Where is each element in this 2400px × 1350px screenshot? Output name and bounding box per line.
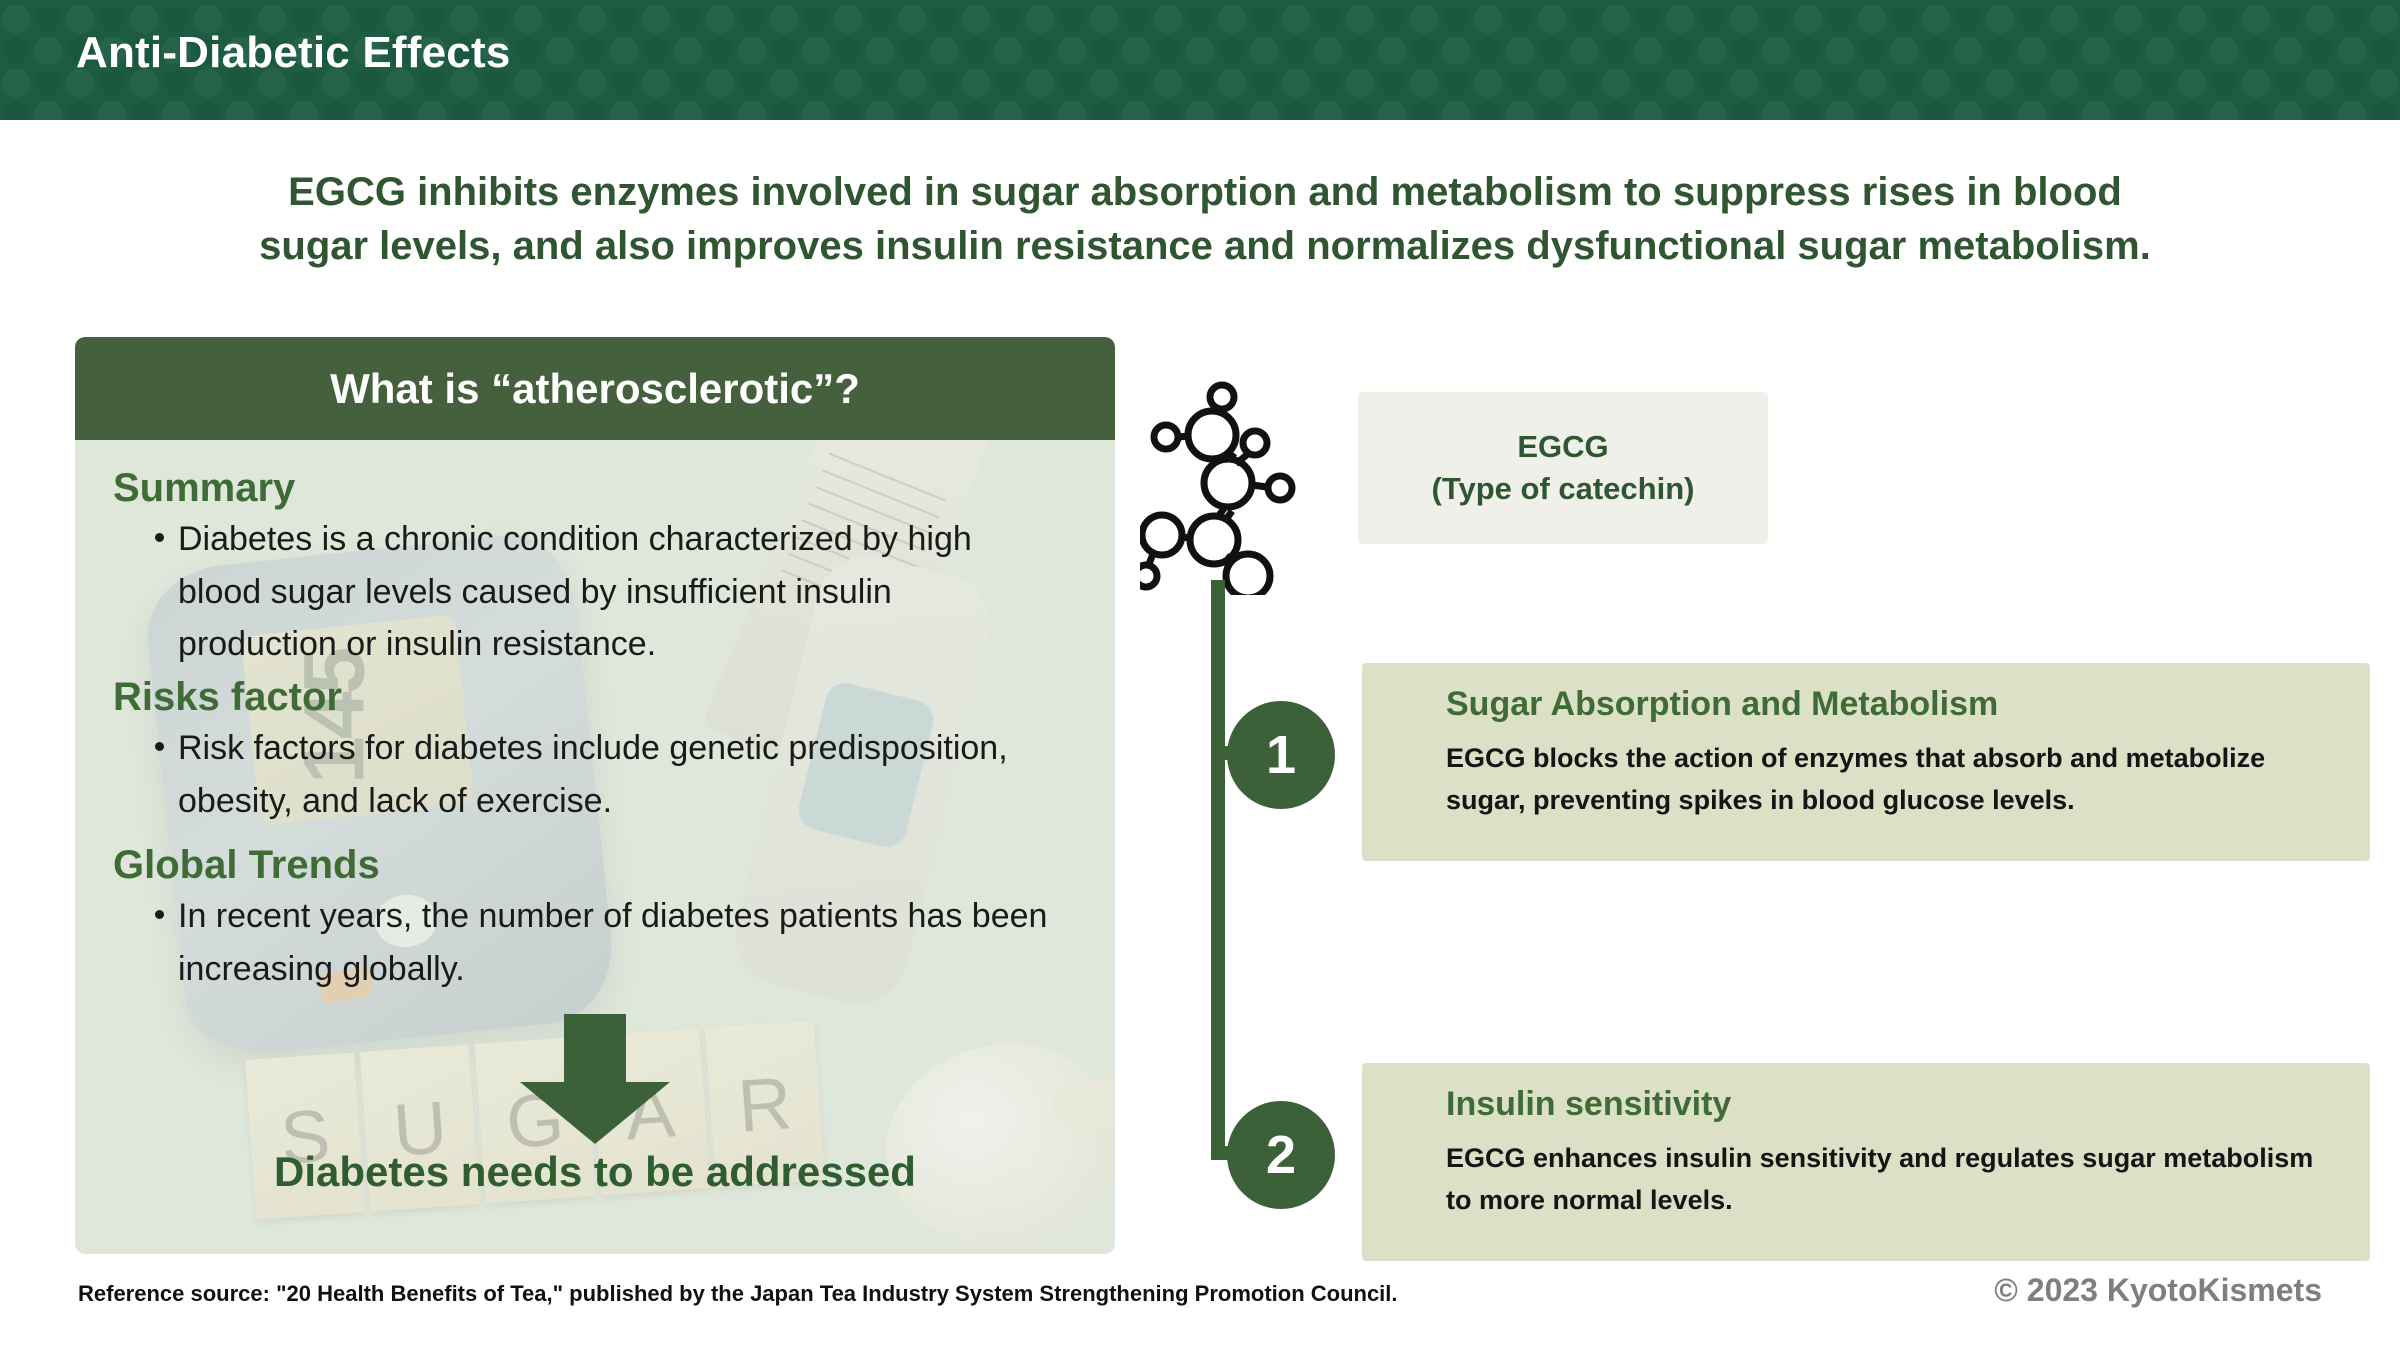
step-title-2: Insulin sensitivity	[1446, 1085, 2336, 1124]
step-number-badge-2: 2	[1227, 1101, 1335, 1209]
definition-card: What is “atherosclerotic”? 145 S U G A R	[75, 337, 1115, 1254]
section-heading-summary: Summary	[113, 466, 1085, 511]
egcg-subtitle: (Type of catechin)	[1432, 471, 1695, 507]
subtitle-line-2: sugar levels, and also improves insulin …	[70, 219, 2340, 273]
subtitle-line-1: EGCG inhibits enzymes involved in sugar …	[70, 165, 2340, 219]
definition-card-title: What is “atherosclerotic”?	[330, 365, 860, 413]
down-arrow-wrap	[75, 1014, 1115, 1144]
bullet-dot-icon	[155, 533, 164, 542]
section-heading-risks: Risks factor	[113, 675, 1085, 720]
flow-step-2: 2 Insulin sensitivity EGCG enhances insu…	[1362, 1063, 2370, 1261]
arrow-down-icon	[520, 1014, 670, 1144]
section-bullet-risks: Risk factors for diabetes include geneti…	[178, 722, 1058, 827]
step-description-2: EGCG enhances insulin sensitivity and re…	[1446, 1138, 2336, 1222]
list-item: Diabetes is a chronic condition characte…	[155, 513, 1085, 671]
definition-card-body: 145 S U G A R Summary Diabetes is a chro…	[75, 440, 1115, 1254]
flow-connector	[1140, 580, 1380, 1180]
connector-trunk	[1211, 580, 1225, 1160]
bullet-dot-icon	[155, 910, 164, 919]
egcg-source-box: EGCG (Type of catechin)	[1358, 392, 1768, 544]
flow-step-1: 1 Sugar Absorption and Metabolism EGCG b…	[1362, 663, 2370, 861]
definition-card-content: Summary Diabetes is a chronic condition …	[75, 440, 1115, 996]
reference-source-text: Reference source: "20 Health Benefits of…	[78, 1281, 1398, 1307]
section-bullet-summary: Diabetes is a chronic condition characte…	[178, 513, 1058, 671]
header-band: Anti-Diabetic Effects	[0, 0, 2400, 120]
subtitle-block: EGCG inhibits enzymes involved in sugar …	[70, 165, 2340, 273]
section-bullet-global-trends: In recent years, the number of diabetes …	[178, 890, 1058, 995]
step-description-1: EGCG blocks the action of enzymes that a…	[1446, 738, 2336, 822]
bullet-dot-icon	[155, 742, 164, 751]
definition-card-conclusion: Diabetes needs to be addressed	[75, 1148, 1115, 1196]
egcg-name: EGCG	[1517, 429, 1608, 465]
list-item: Risk factors for diabetes include geneti…	[155, 722, 1085, 827]
molecule-icon	[1140, 380, 1315, 595]
page-title: Anti-Diabetic Effects	[76, 28, 511, 78]
step-number-badge-1: 1	[1227, 701, 1335, 809]
egcg-flow-diagram: EGCG (Type of catechin) 1 Sugar Absorpti…	[1140, 380, 2370, 1250]
definition-card-header: What is “atherosclerotic”?	[75, 337, 1115, 440]
copyright-text: © 2023 KyotoKismets	[1994, 1272, 2322, 1309]
list-item: In recent years, the number of diabetes …	[155, 890, 1085, 995]
step-title-1: Sugar Absorption and Metabolism	[1446, 685, 2336, 724]
section-heading-global-trends: Global Trends	[113, 843, 1085, 888]
